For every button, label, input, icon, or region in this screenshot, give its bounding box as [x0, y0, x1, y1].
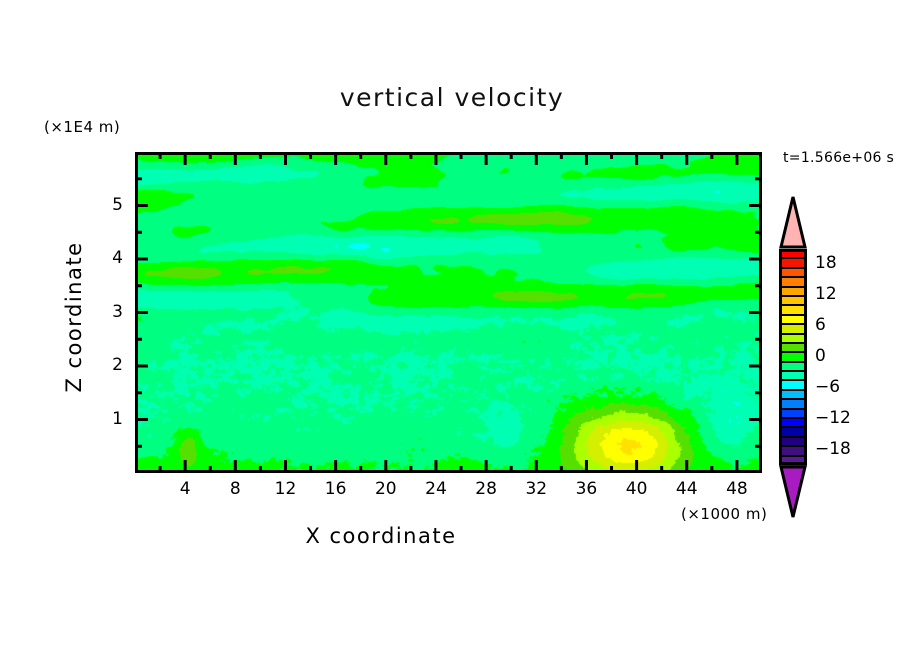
x-tick-label: 32 — [516, 479, 556, 499]
y-tick-label: 4 — [101, 248, 123, 268]
x-tick-label: 40 — [617, 479, 657, 499]
colorbar-tick-label: −18 — [815, 439, 851, 459]
x-tick-label: 44 — [667, 479, 707, 499]
colorbar-under-arrow — [779, 465, 807, 519]
x-tick-label: 20 — [366, 479, 406, 499]
colorbar-band-separator — [779, 455, 807, 457]
colorbar-band-separator — [779, 417, 807, 419]
colorbar-band-separator — [779, 286, 807, 288]
y-tick-label: 5 — [101, 195, 123, 215]
y-tick-label: 3 — [101, 302, 123, 322]
colorbar-tick-label: −6 — [815, 377, 840, 397]
colorbar-band-separator — [779, 267, 807, 269]
x-axis-unit-label: (×1000 m) — [681, 505, 767, 523]
colorbar-band-separator — [779, 323, 807, 325]
colorbar-band-separator — [779, 408, 807, 410]
colorbar-tick-label: 12 — [815, 284, 837, 304]
colorbar-band-separator — [779, 398, 807, 400]
colorbar-tick-label: 0 — [815, 346, 826, 366]
y-axis-unit-label: (×1E4 m) — [44, 118, 120, 136]
colorbar-band-separator — [779, 379, 807, 381]
page-title: vertical velocity — [0, 83, 904, 112]
colorbar-band-separator — [779, 257, 807, 259]
y-axis-title: Z coordinate — [62, 217, 86, 417]
x-tick-label: 28 — [466, 479, 506, 499]
x-tick-label: 8 — [215, 479, 255, 499]
time-annotation: t=1.566e+06 s — [783, 150, 894, 166]
x-tick-label: 4 — [165, 479, 205, 499]
colorbar-band-separator — [779, 276, 807, 278]
colorbar-band-separator — [779, 295, 807, 297]
colorbar-band-separator — [779, 436, 807, 438]
x-axis-title: X coordinate — [0, 524, 762, 548]
colorbar-tick-label: 18 — [815, 253, 837, 273]
colorbar-bands — [779, 249, 807, 465]
x-tick-label: 36 — [566, 479, 606, 499]
colorbar-band-separator — [779, 342, 807, 344]
x-tick-label: 16 — [316, 479, 356, 499]
x-tick-label: 24 — [416, 479, 456, 499]
colorbar-tick-label: −12 — [815, 408, 851, 428]
colorbar-band-separator — [779, 426, 807, 428]
x-tick-label: 12 — [265, 479, 305, 499]
colorbar-band-separator — [779, 304, 807, 306]
contour-plot-area — [135, 152, 762, 473]
contour-field — [135, 152, 762, 473]
colorbar-band-separator — [779, 389, 807, 391]
y-tick-label: 2 — [101, 355, 123, 375]
colorbar-band-separator — [779, 361, 807, 363]
colorbar-band-separator — [779, 351, 807, 353]
x-tick-label: 48 — [717, 479, 757, 499]
colorbar-band-separator — [779, 445, 807, 447]
colorbar-band-separator — [779, 314, 807, 316]
y-tick-label: 1 — [101, 409, 123, 429]
colorbar-border — [779, 249, 807, 465]
colorbar-band-separator — [779, 370, 807, 372]
colorbar-tick-label: 6 — [815, 315, 826, 335]
colorbar-band-separator — [779, 333, 807, 335]
colorbar-over-arrow — [779, 195, 807, 249]
